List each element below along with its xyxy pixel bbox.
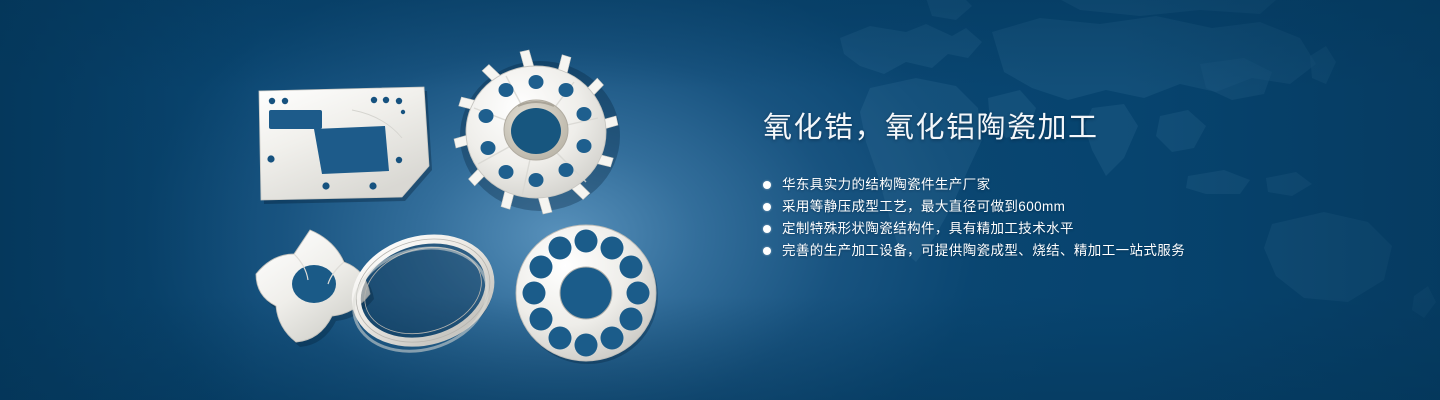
feature-list: 华东具实力的结构陶瓷件生产厂家 采用等静压成型工艺，最大直径可做到600mm 定… (763, 174, 1383, 262)
feature-text: 完善的生产加工设备，可提供陶瓷成型、烧结、精加工一站式服务 (782, 240, 1185, 262)
bullet-dot-icon (763, 203, 771, 211)
ceramic-perforated-disc-image (512, 218, 662, 368)
feature-text: 华东具实力的结构陶瓷件生产厂家 (782, 174, 991, 196)
banner-headline: 氧化锆，氧化铝陶瓷加工 (763, 108, 1383, 148)
bullet-dot-icon (763, 225, 771, 233)
ceramic-ring-image (340, 222, 510, 357)
banner-text-block: 氧化锆，氧化铝陶瓷加工 华东具实力的结构陶瓷件生产厂家 采用等静压成型工艺，最大… (763, 108, 1383, 262)
product-photo-group (0, 0, 720, 400)
feature-list-item: 定制特殊形状陶瓷结构件，具有精加工技术水平 (763, 218, 1383, 240)
feature-list-item: 华东具实力的结构陶瓷件生产厂家 (763, 174, 1383, 196)
bullet-dot-icon (763, 181, 771, 189)
feature-text: 定制特殊形状陶瓷结构件，具有精加工技术水平 (782, 218, 1074, 240)
feature-list-item: 采用等静压成型工艺，最大直径可做到600mm (763, 196, 1383, 218)
ceramic-plate-image (252, 82, 432, 206)
feature-list-item: 完善的生产加工设备，可提供陶瓷成型、烧结、精加工一站式服务 (763, 240, 1383, 262)
bullet-dot-icon (763, 247, 771, 255)
promo-banner: 氧化锆，氧化铝陶瓷加工 华东具实力的结构陶瓷件生产厂家 采用等静压成型工艺，最大… (0, 0, 1440, 400)
ceramic-impeller-image (448, 46, 626, 216)
feature-text: 采用等静压成型工艺，最大直径可做到600mm (782, 196, 1065, 218)
